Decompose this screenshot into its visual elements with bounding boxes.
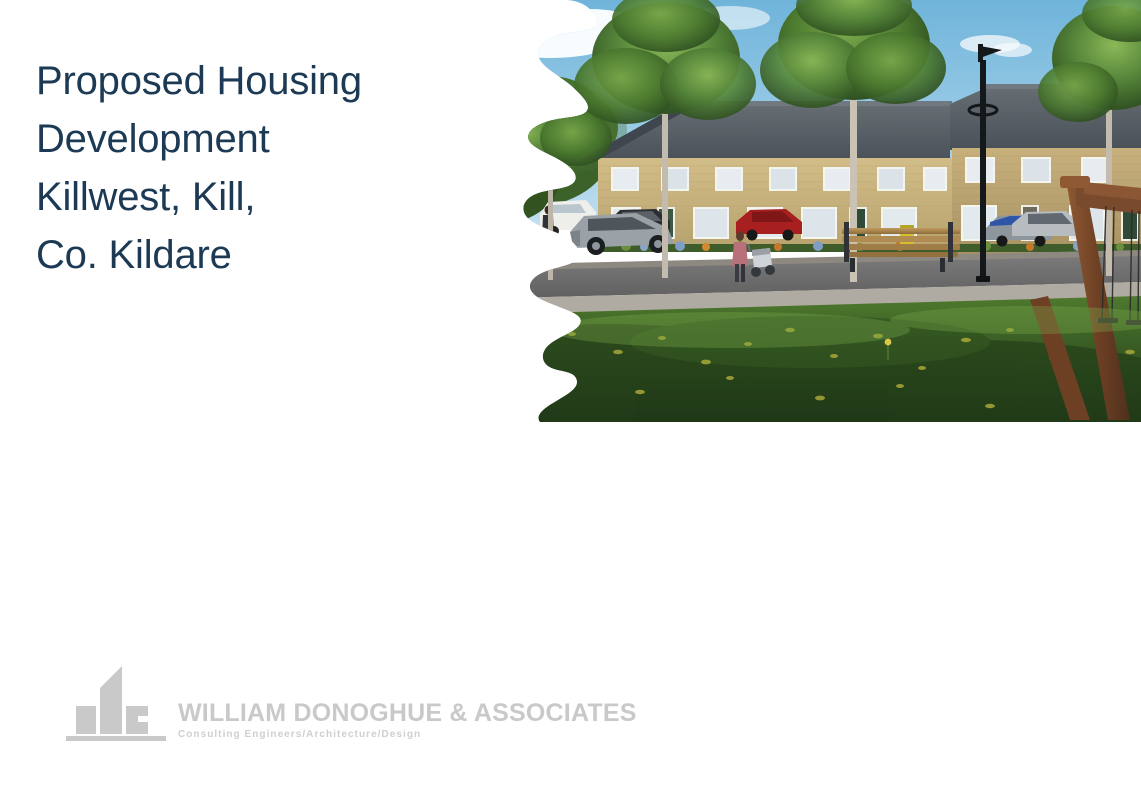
presentation-slide: Proposed Housing Development Killwest, K…	[0, 0, 1141, 804]
hero-rendering-image	[430, 0, 1141, 422]
title-line-2: Development	[36, 110, 416, 168]
logo-text-block: WILLIAM DONOGHUE & ASSOCIATES Consulting…	[178, 699, 637, 746]
company-name: WILLIAM DONOGHUE & ASSOCIATES	[178, 699, 637, 727]
building-skyline-icon	[64, 664, 168, 746]
orange-planting-bed	[430, 222, 510, 244]
slide-title: Proposed Housing Development Killwest, K…	[36, 52, 416, 284]
hero-rendering-svg	[430, 0, 1141, 422]
title-line-1: Proposed Housing	[36, 52, 416, 110]
company-logo: WILLIAM DONOGHUE & ASSOCIATES Consulting…	[64, 664, 637, 746]
company-tagline: Consulting Engineers/Architecture/Design	[178, 728, 637, 742]
standing-figure-b	[509, 210, 519, 250]
title-line-4: Co. Kildare	[36, 226, 416, 284]
title-line-3: Killwest, Kill,	[36, 168, 416, 226]
red-van	[438, 198, 522, 233]
